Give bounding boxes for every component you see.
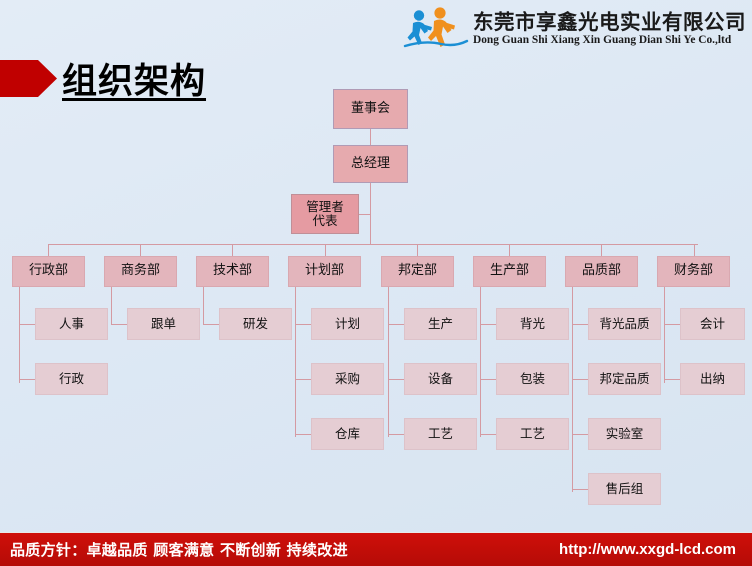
connector-planning-child-1 bbox=[295, 324, 311, 325]
connector-drop-admin bbox=[48, 244, 49, 256]
node-dept-quality[interactable]: 品质部 bbox=[565, 256, 638, 287]
connector-production-child-1 bbox=[480, 324, 496, 325]
connector-quality-child-1 bbox=[572, 324, 588, 325]
connector-quality-child-2 bbox=[572, 379, 588, 380]
node-sub-quality-backlight[interactable]: 背光品质 bbox=[588, 308, 661, 340]
node-sub-quality-bonding[interactable]: 邦定品质 bbox=[588, 363, 661, 395]
slide-canvas: 东莞市享鑫光电实业有限公司 Dong Guan Shi Xiang Xin Gu… bbox=[0, 0, 752, 566]
connector-board-to-gm bbox=[370, 129, 371, 145]
connector-drop-business bbox=[140, 244, 141, 256]
node-sub-bonding-process[interactable]: 工艺 bbox=[404, 418, 477, 450]
node-dept-bonding[interactable]: 邦定部 bbox=[381, 256, 454, 287]
node-sub-production-packaging[interactable]: 包装 bbox=[496, 363, 569, 395]
connector-spine-bonding bbox=[388, 287, 389, 437]
connector-finance-child-1 bbox=[664, 324, 680, 325]
org-chart: 董事会 总经理 管理者 代表 行政部 商务部 技术部 计划部 邦定部 生产部 品… bbox=[0, 0, 752, 525]
connector-bonding-child-2 bbox=[388, 379, 404, 380]
connector-spine-production bbox=[480, 287, 481, 437]
node-sub-bonding-equipment[interactable]: 设备 bbox=[404, 363, 477, 395]
node-sub-production-process[interactable]: 工艺 bbox=[496, 418, 569, 450]
connector-admin-child-1 bbox=[19, 324, 35, 325]
node-dept-production[interactable]: 生产部 bbox=[473, 256, 546, 287]
node-dept-business[interactable]: 商务部 bbox=[104, 256, 177, 287]
connector-production-child-3 bbox=[480, 434, 496, 435]
connector-drop-bonding bbox=[417, 244, 418, 256]
node-sub-planning-warehouse[interactable]: 仓库 bbox=[311, 418, 384, 450]
node-sub-planning-purchasing[interactable]: 采购 bbox=[311, 363, 384, 395]
connector-bonding-child-3 bbox=[388, 434, 404, 435]
node-sub-tech-rnd[interactable]: 研发 bbox=[219, 308, 292, 340]
company-website-url[interactable]: http://www.xxgd-lcd.com bbox=[559, 541, 736, 558]
node-manager-representative[interactable]: 管理者 代表 bbox=[291, 194, 359, 234]
node-sub-bonding-production[interactable]: 生产 bbox=[404, 308, 477, 340]
connector-quality-child-4 bbox=[572, 489, 588, 490]
node-board[interactable]: 董事会 bbox=[333, 89, 408, 129]
connector-spine-planning bbox=[295, 287, 296, 437]
connector-drop-production bbox=[509, 244, 510, 256]
node-dept-admin[interactable]: 行政部 bbox=[12, 256, 85, 287]
connector-spine-finance bbox=[664, 287, 665, 383]
node-sub-finance-accounting[interactable]: 会计 bbox=[680, 308, 745, 340]
connector-quality-child-3 bbox=[572, 434, 588, 435]
connector-drop-quality bbox=[601, 244, 602, 256]
connector-spine-tech bbox=[203, 287, 204, 324]
node-sub-admin-hr[interactable]: 人事 bbox=[35, 308, 108, 340]
connector-drop-tech bbox=[232, 244, 233, 256]
node-sub-quality-aftersales[interactable]: 售后组 bbox=[588, 473, 661, 505]
node-sub-admin-administration[interactable]: 行政 bbox=[35, 363, 108, 395]
connector-spine-business bbox=[111, 287, 112, 324]
connector-spine-admin bbox=[19, 287, 20, 383]
node-dept-finance[interactable]: 财务部 bbox=[657, 256, 730, 287]
connector-finance-child-2 bbox=[664, 379, 680, 380]
connector-planning-child-3 bbox=[295, 434, 311, 435]
connector-planning-child-2 bbox=[295, 379, 311, 380]
node-sub-finance-cashier[interactable]: 出纳 bbox=[680, 363, 745, 395]
connector-tech-child-1 bbox=[203, 324, 219, 325]
node-general-manager[interactable]: 总经理 bbox=[333, 145, 408, 183]
connector-spine-quality bbox=[572, 287, 573, 492]
node-sub-production-backlight[interactable]: 背光 bbox=[496, 308, 569, 340]
footer-bar: 品质方针：卓越品质 顾客满意 不断创新 持续改进 http://www.xxgd… bbox=[0, 532, 752, 566]
connector-production-child-2 bbox=[480, 379, 496, 380]
connector-drop-finance bbox=[694, 244, 695, 256]
node-sub-quality-lab[interactable]: 实验室 bbox=[588, 418, 661, 450]
node-sub-business-merchandiser[interactable]: 跟单 bbox=[127, 308, 200, 340]
connector-gm-to-manager-rep bbox=[359, 214, 371, 215]
node-sub-planning-plan[interactable]: 计划 bbox=[311, 308, 384, 340]
quality-policy-slogan: 品质方针：卓越品质 顾客满意 不断创新 持续改进 bbox=[10, 539, 348, 560]
connector-bonding-child-1 bbox=[388, 324, 404, 325]
connector-business-child-1 bbox=[111, 324, 127, 325]
connector-drop-planning bbox=[325, 244, 326, 256]
node-dept-tech[interactable]: 技术部 bbox=[196, 256, 269, 287]
connector-admin-child-2 bbox=[19, 379, 35, 380]
node-dept-planning[interactable]: 计划部 bbox=[288, 256, 361, 287]
